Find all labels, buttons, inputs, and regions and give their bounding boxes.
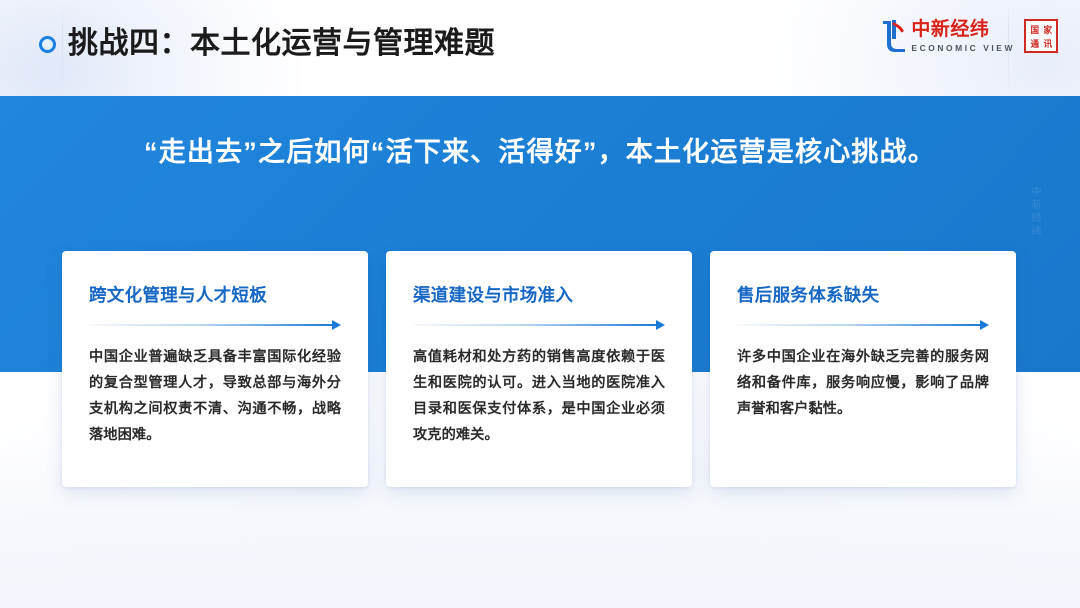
arrow-head <box>656 320 665 330</box>
logo-english-name: ECONOMIC VIEW <box>911 42 1015 54</box>
ring-bullet-icon <box>39 36 56 53</box>
page-title: 挑战四：本土化运营与管理难题 <box>68 22 495 66</box>
seal-char: 家 <box>1041 23 1054 37</box>
challenge-card-list: 跨文化管理与人才短板 中国企业普遍缺乏具备丰富国际化经验的复合型管理人才，导致总… <box>62 251 1018 487</box>
arrow-right-icon <box>89 319 341 330</box>
logo-text-column: 中新经纬 ECONOMIC VIEW <box>911 20 1015 54</box>
seal-char: 国 <box>1028 23 1041 37</box>
arrow-right-icon <box>737 319 989 330</box>
arrow-line <box>89 324 334 326</box>
red-seal-stamp-icon: 国 家 通 讯 <box>1024 19 1058 53</box>
logo-lockup: 中新经纬 ECONOMIC VIEW <box>881 18 1015 54</box>
slide-header: 挑战四：本土化运营与管理难题 中新经纬 ECONOMIC VIEW 国 家 <box>0 0 1080 96</box>
seal-char: 讯 <box>1041 37 1054 51</box>
banner-headline: “走出去”之后如何“活下来、活得好”，本土化运营是核心挑战。 <box>0 132 1080 172</box>
arrow-right-icon <box>413 319 665 330</box>
card-body: 中国企业普遍缺乏具备丰富国际化经验的复合型管理人才，导致总部与海外分支机构之间权… <box>89 344 341 448</box>
arrow-head <box>980 320 989 330</box>
card-title: 跨文化管理与人才短板 <box>89 282 341 308</box>
logo-chinese-name: 中新经纬 <box>911 20 989 40</box>
brand-logo: 中新经纬 ECONOMIC VIEW 国 家 通 讯 <box>881 18 1058 54</box>
arrow-line <box>413 324 658 326</box>
arrow-line <box>737 324 982 326</box>
challenge-card[interactable]: 渠道建设与市场准入 高值耗材和处方药的销售高度依赖于医生和医院的认可。进入当地的… <box>386 251 692 487</box>
card-title: 渠道建设与市场准入 <box>413 282 665 308</box>
card-body: 许多中国企业在海外缺乏完善的服务网络和备件库，服务响应慢，影响了品牌声誉和客户黏… <box>737 344 989 422</box>
zhongxin-jingwei-mark-icon <box>881 19 907 53</box>
arrow-head <box>332 320 341 330</box>
slide-root: 挑战四：本土化运营与管理难题 中新经纬 ECONOMIC VIEW 国 家 <box>0 0 1080 608</box>
banner-watermark: 中新经纬 <box>1027 186 1042 238</box>
card-title: 售后服务体系缺失 <box>737 282 989 308</box>
seal-char: 通 <box>1028 37 1041 51</box>
challenge-card[interactable]: 跨文化管理与人才短板 中国企业普遍缺乏具备丰富国际化经验的复合型管理人才，导致总… <box>62 251 368 487</box>
card-body: 高值耗材和处方药的销售高度依赖于医生和医院的认可。进入当地的医院准入目录和医保支… <box>413 344 665 448</box>
challenge-card[interactable]: 售后服务体系缺失 许多中国企业在海外缺乏完善的服务网络和备件库，服务响应慢，影响… <box>710 251 1016 487</box>
